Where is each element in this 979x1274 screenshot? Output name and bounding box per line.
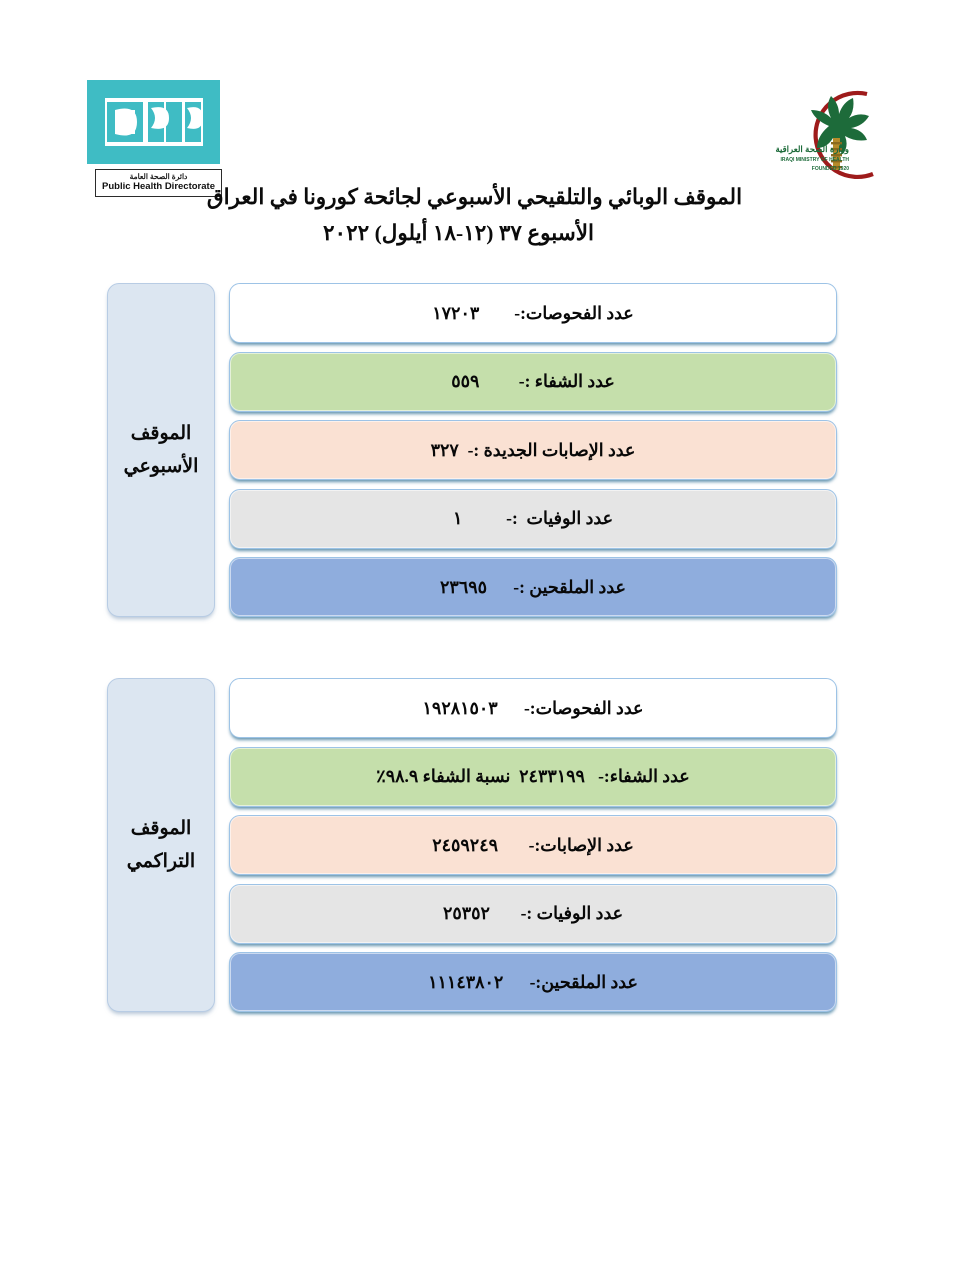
stat-row-tests: عدد الفحوصات:- ١٩٢٨١٥٠٣: [229, 678, 837, 738]
svg-text:FOUNDED 1920: FOUNDED 1920: [812, 166, 849, 172]
stat-row-text: عدد الإصابات الجديدة :- ٣٢٧: [431, 440, 636, 461]
phd-caption-arabic: دائرة الصحة العامة: [97, 172, 220, 181]
stat-row-text: عدد الوفيات :- ٢٥٣٥٢: [443, 903, 623, 924]
ministry-of-health-icon: وزارة الصحة العراقية IRAQI MINISTRY OF H…: [771, 86, 939, 182]
stat-row-text: عدد الملقحين :- ٢٣٦٩٥: [440, 577, 626, 598]
stat-row-vaccinated: عدد الملقحين:- ١١١٤٣٨٠٢: [229, 952, 837, 1012]
document-title-block: الموقف الوبائي والتلقيحي الأسبوعي لجائحة…: [0, 183, 979, 248]
page-subtitle: الأسبوع ٣٧ (١٢-١٨ أيلول) ٢٠٢٢: [0, 219, 979, 248]
stat-row-text: عدد الملقحين:- ١١١٤٣٨٠٢: [428, 972, 638, 993]
ministry-of-health-logo: وزارة الصحة العراقية IRAQI MINISTRY OF H…: [771, 86, 939, 182]
stat-row-text: عدد الشفاء:- ٢٤٣٣١٩٩ نسبة الشفاء ٩٨.٩٪: [376, 766, 689, 787]
stat-row-new-cases: عدد الإصابات الجديدة :- ٣٢٧: [229, 420, 837, 480]
svg-text:IRAQI MINISTRY OF HEALTH: IRAQI MINISTRY OF HEALTH: [780, 157, 849, 163]
weekly-status-panel: الموقف الأسبوعي عدد الفحوصات:- ١٧٢٠٣عدد …: [107, 283, 837, 617]
cumulative-rows: عدد الفحوصات:- ١٩٢٨١٥٠٣عدد الشفاء:- ٢٤٣٣…: [229, 678, 837, 1012]
weekly-panel-label-cell: الموقف الأسبوعي: [107, 283, 215, 617]
stat-row-deaths: عدد الوفيات :- ١: [229, 489, 837, 549]
page-title: الموقف الوبائي والتلقيحي الأسبوعي لجائحة…: [0, 183, 979, 212]
stat-row-text: عدد الفحوصات:- ١٩٢٨١٥٠٣: [423, 698, 644, 719]
document-header: دائرة الصحة العامة Public Health Directo…: [0, 0, 979, 275]
stat-row-deaths: عدد الوفيات :- ٢٥٣٥٢: [229, 884, 837, 944]
phd-logo: دائرة الصحة العامة Public Health Directo…: [82, 78, 222, 197]
stat-row-cases: عدد الإصابات:- ٢٤٥٩٢٤٩: [229, 815, 837, 875]
stat-row-text: عدد الفحوصات:- ١٧٢٠٣: [432, 303, 634, 324]
stat-row-text: عدد الوفيات :- ١: [453, 508, 613, 529]
cumulative-panel-label: الموقف التراكمي: [127, 812, 195, 879]
stat-row-text: عدد الشفاء :- ٥٥٩: [451, 371, 615, 392]
svg-text:وزارة الصحة العراقية: وزارة الصحة العراقية: [775, 144, 849, 155]
weekly-rows: عدد الفحوصات:- ١٧٢٠٣عدد الشفاء :- ٥٥٩عدد…: [229, 283, 837, 617]
phd-monogram-icon: [85, 78, 222, 166]
stat-row-vaccinated: عدد الملقحين :- ٢٣٦٩٥: [229, 557, 837, 617]
weekly-panel-label: الموقف الأسبوعي: [124, 417, 199, 484]
cumulative-panel-label-cell: الموقف التراكمي: [107, 678, 215, 1012]
stat-row-recovered: عدد الشفاء :- ٥٥٩: [229, 352, 837, 412]
stat-row-recovered: عدد الشفاء:- ٢٤٣٣١٩٩ نسبة الشفاء ٩٨.٩٪: [229, 747, 837, 807]
cumulative-status-panel: الموقف التراكمي عدد الفحوصات:- ١٩٢٨١٥٠٣ع…: [107, 678, 837, 1012]
stat-row-text: عدد الإصابات:- ٢٤٥٩٢٤٩: [432, 835, 634, 856]
stat-row-tests: عدد الفحوصات:- ١٧٢٠٣: [229, 283, 837, 343]
